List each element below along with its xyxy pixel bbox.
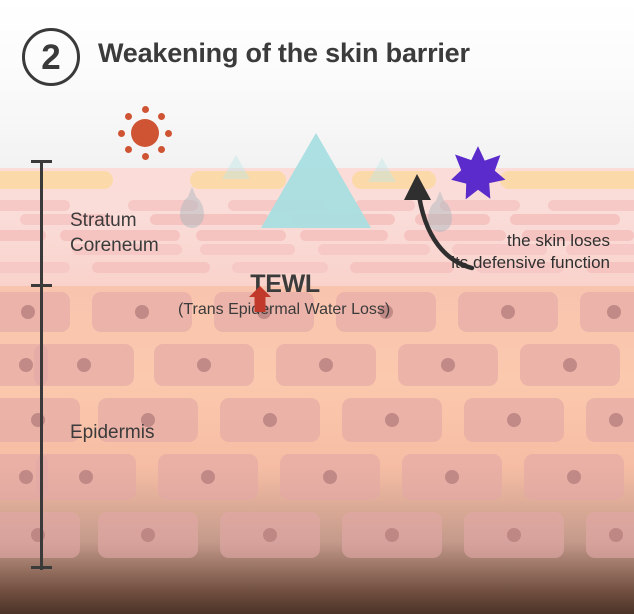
ruler-stem (40, 162, 43, 570)
epidermis-layer (0, 286, 634, 614)
irritant-triangle-icon-small-left (222, 155, 250, 179)
ruler-tick-middle (31, 284, 52, 287)
defense-loss-line2: its defensive function (408, 252, 610, 274)
page-title: Weakening of the skin barrier (98, 38, 470, 69)
irritant-triangle-icon (261, 133, 371, 228)
depth-ruler (30, 158, 52, 572)
tewl-annotation: TEWL (Trans Epidermal Water Loss) (178, 270, 390, 319)
irritant-triangle-icon-small-right (368, 158, 396, 182)
stratum-corneum-label-line1: Stratum (70, 208, 159, 233)
stratum-corneum-label: Stratum Coreneum (70, 208, 159, 258)
ruler-tick-bottom (31, 566, 52, 569)
defense-loss-annotation: the skin loses its defensive function (408, 230, 610, 274)
defense-loss-line1: the skin loses (408, 230, 610, 252)
header: 2 Weakening of the skin barrier (0, 0, 634, 100)
water-droplet-icon (180, 196, 204, 228)
step-number-text: 2 (41, 40, 60, 75)
pathogen-sun-icon (118, 106, 172, 160)
skin-barrier-infographic: 2 Weakening of the skin barrier (0, 0, 634, 614)
tewl-sublabel: (Trans Epidermal Water Loss) (178, 301, 390, 319)
ruler-tick-top (31, 160, 52, 163)
sun-core (131, 119, 159, 147)
step-number-badge: 2 (22, 28, 80, 86)
epidermis-label: Epidermis (70, 422, 154, 444)
stratum-corneum-label-line2: Coreneum (70, 233, 159, 258)
